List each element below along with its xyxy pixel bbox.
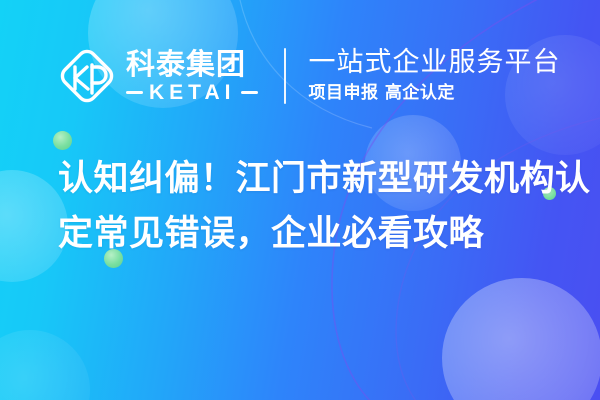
header-divider — [284, 48, 286, 104]
wordmark-dash-left — [126, 91, 143, 94]
decorative-green-dot-upper-left — [53, 131, 72, 150]
decorative-circle-bottom-right — [442, 278, 600, 400]
brand-name-en: KETAI — [149, 82, 235, 103]
tagline-primary: 一站式企业服务平台 — [308, 48, 560, 78]
headline-line-2: 定常见错误，企业必看攻略 — [58, 207, 578, 262]
brand-name-cn: 科泰集团 — [126, 49, 258, 79]
kp-diamond-logo-icon — [58, 47, 116, 105]
brand-logo[interactable]: 科泰集团 KETAI — [58, 47, 258, 105]
decorative-circle-bottom-left — [0, 330, 90, 400]
promo-banner: 科泰集团 KETAI 一站式企业服务平台 项目申报 高企认定 认知纠偏！江门市新… — [0, 0, 600, 400]
tagline-secondary: 项目申报 高企认定 — [308, 83, 560, 103]
headline: 认知纠偏！江门市新型研发机构认 定常见错误，企业必看攻略 — [58, 152, 578, 262]
wordmark-dash-right — [241, 91, 258, 94]
brand-wordmark: 科泰集团 KETAI — [126, 49, 258, 103]
banner-header: 科泰集团 KETAI 一站式企业服务平台 项目申报 高企认定 — [0, 38, 600, 114]
brand-name-en-row: KETAI — [126, 82, 258, 103]
headline-line-1: 认知纠偏！江门市新型研发机构认 — [58, 152, 578, 207]
tagline-block: 一站式企业服务平台 项目申报 高企认定 — [308, 48, 560, 104]
